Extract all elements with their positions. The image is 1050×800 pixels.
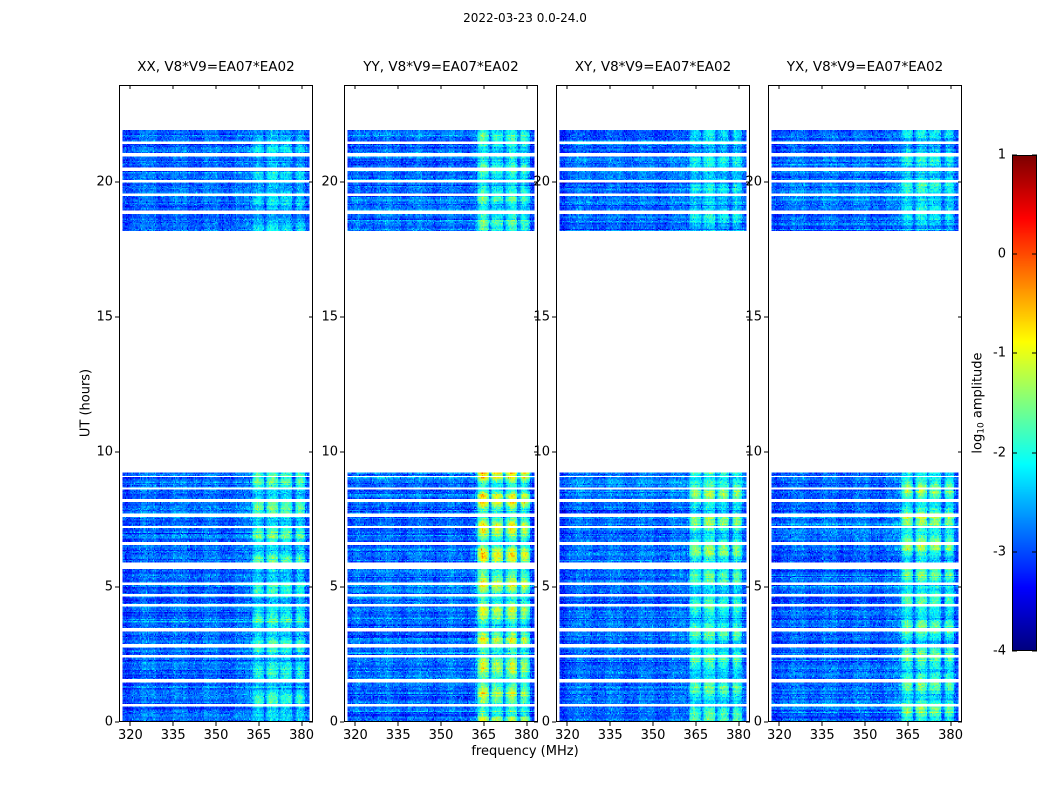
x-tick-mark-top: [258, 85, 259, 89]
y-tick-label: 5: [542, 580, 550, 595]
y-tick-label: 15: [96, 310, 113, 325]
y-tick-mark-right: [746, 587, 750, 588]
spectrogram-panel-yx: YX, V8*V9=EA07*EA02051015203203353503653…: [768, 85, 962, 722]
y-tick-label: 0: [330, 715, 338, 730]
x-tick-label: 320: [118, 728, 143, 743]
y-tick-label: 0: [542, 715, 550, 730]
y-tick-mark-right: [958, 182, 962, 183]
x-tick-label: 380: [289, 728, 314, 743]
y-tick-mark: [764, 722, 768, 723]
y-tick-mark: [115, 587, 119, 588]
x-tick-mark: [441, 722, 442, 726]
x-tick-label: 350: [429, 728, 454, 743]
x-tick-mark-top: [865, 85, 866, 89]
y-tick-mark-right: [309, 722, 313, 723]
y-tick-label: 20: [533, 175, 550, 190]
x-tick-mark: [216, 722, 217, 726]
colorbar-tick-mark-right: [1032, 353, 1037, 354]
colorbar-tick-mark: [1012, 452, 1017, 453]
plot-area-xy[interactable]: [556, 85, 750, 722]
y-tick-mark-right: [309, 452, 313, 453]
x-tick-mark: [695, 722, 696, 726]
heatmap-image-yy: [345, 86, 537, 721]
x-tick-mark: [301, 722, 302, 726]
x-tick-mark: [173, 722, 174, 726]
y-tick-mark-right: [746, 722, 750, 723]
x-tick-mark-top: [567, 85, 568, 89]
colorbar[interactable]: [1012, 155, 1037, 651]
y-tick-mark: [115, 182, 119, 183]
y-tick-label: 5: [754, 580, 762, 595]
plot-area-yy[interactable]: [344, 85, 538, 722]
y-tick-label: 10: [745, 445, 762, 460]
y-tick-mark-right: [958, 587, 962, 588]
x-tick-mark: [907, 722, 908, 726]
x-tick-mark-top: [526, 85, 527, 89]
plot-area-xx[interactable]: [119, 85, 313, 722]
colorbar-tick-label: 0: [998, 247, 1006, 262]
y-tick-label: 5: [330, 580, 338, 595]
colorbar-tick-mark-right: [1032, 254, 1037, 255]
panel-title-yy: YY, V8*V9=EA07*EA02: [363, 59, 518, 75]
y-tick-mark: [552, 317, 556, 318]
x-tick-mark-top: [653, 85, 654, 89]
heatmap-image-yx: [769, 86, 961, 721]
y-tick-mark: [764, 587, 768, 588]
colorbar-label-main: amplitude: [971, 352, 986, 418]
x-tick-label: 380: [514, 728, 539, 743]
x-tick-mark: [483, 722, 484, 726]
x-tick-mark-top: [483, 85, 484, 89]
x-tick-mark-top: [907, 85, 908, 89]
colorbar-tick-mark: [1012, 254, 1017, 255]
x-tick-label: 335: [386, 728, 411, 743]
y-tick-mark: [764, 317, 768, 318]
colorbar-label-prefix: log: [971, 434, 986, 454]
y-tick-mark-right: [309, 317, 313, 318]
spectrogram-panel-yy: YY, V8*V9=EA07*EA02051015203203353503653…: [344, 85, 538, 722]
x-tick-label: 380: [726, 728, 751, 743]
x-tick-mark-top: [738, 85, 739, 89]
x-tick-label: 335: [161, 728, 186, 743]
colorbar-label-sub: 10: [977, 422, 987, 433]
x-tick-mark: [779, 722, 780, 726]
x-tick-label: 365: [246, 728, 271, 743]
y-tick-label: 20: [321, 175, 338, 190]
x-tick-label: 335: [598, 728, 623, 743]
x-tick-label: 350: [853, 728, 878, 743]
y-tick-mark: [115, 452, 119, 453]
y-tick-mark: [340, 587, 344, 588]
y-axis-label: UT (hours): [79, 369, 94, 437]
y-tick-label: 10: [533, 445, 550, 460]
colorbar-tick-label: -1: [993, 346, 1006, 361]
x-tick-label: 365: [895, 728, 920, 743]
y-tick-mark: [552, 452, 556, 453]
x-tick-mark-top: [173, 85, 174, 89]
x-tick-label: 320: [555, 728, 580, 743]
x-tick-mark-top: [301, 85, 302, 89]
y-tick-mark: [764, 452, 768, 453]
y-tick-mark-right: [534, 722, 538, 723]
y-tick-label: 0: [105, 715, 113, 730]
colorbar-tick-label: -4: [993, 644, 1006, 659]
x-tick-mark: [526, 722, 527, 726]
x-tick-mark: [865, 722, 866, 726]
spectrogram-panel-xy: XY, V8*V9=EA07*EA02051015203203353503653…: [556, 85, 750, 722]
x-tick-mark-top: [355, 85, 356, 89]
x-tick-mark: [567, 722, 568, 726]
y-tick-mark: [764, 182, 768, 183]
colorbar-tick-mark-right: [1032, 551, 1037, 552]
colorbar-tick-label: -3: [993, 544, 1006, 559]
y-tick-mark-right: [309, 182, 313, 183]
colorbar-tick-mark-right: [1032, 155, 1037, 156]
y-tick-mark: [552, 587, 556, 588]
x-tick-label: 350: [641, 728, 666, 743]
x-tick-label: 365: [683, 728, 708, 743]
y-tick-mark-right: [309, 587, 313, 588]
y-tick-mark: [340, 182, 344, 183]
panel-title-xy: XY, V8*V9=EA07*EA02: [575, 59, 731, 75]
y-tick-mark: [340, 317, 344, 318]
colorbar-tick-label: 1: [998, 148, 1006, 163]
y-tick-mark: [340, 722, 344, 723]
heatmap-image-xx: [120, 86, 312, 721]
colorbar-tick-mark: [1012, 155, 1017, 156]
x-tick-mark: [355, 722, 356, 726]
y-tick-mark-right: [958, 317, 962, 318]
x-tick-label: 320: [343, 728, 368, 743]
y-tick-mark: [552, 722, 556, 723]
y-tick-label: 10: [321, 445, 338, 460]
colorbar-group: -4-3-2-101: [1012, 155, 1037, 651]
x-tick-mark-top: [822, 85, 823, 89]
y-tick-label: 15: [533, 310, 550, 325]
y-tick-label: 5: [105, 580, 113, 595]
y-tick-label: 20: [745, 175, 762, 190]
x-tick-mark-top: [610, 85, 611, 89]
x-tick-mark: [398, 722, 399, 726]
x-tick-mark: [130, 722, 131, 726]
x-tick-mark: [610, 722, 611, 726]
y-tick-mark: [552, 182, 556, 183]
x-tick-mark-top: [779, 85, 780, 89]
x-tick-mark: [258, 722, 259, 726]
x-tick-label: 335: [810, 728, 835, 743]
colorbar-label: log10 amplitude: [971, 352, 986, 453]
y-tick-label: 10: [96, 445, 113, 460]
x-tick-label: 380: [938, 728, 963, 743]
x-tick-mark: [822, 722, 823, 726]
colorbar-tick-mark: [1012, 651, 1017, 652]
x-tick-mark: [653, 722, 654, 726]
x-tick-mark-top: [398, 85, 399, 89]
y-tick-label: 15: [745, 310, 762, 325]
y-tick-mark-right: [958, 722, 962, 723]
heatmap-image-xy: [557, 86, 749, 721]
colorbar-tick-mark: [1012, 551, 1017, 552]
x-tick-mark-top: [695, 85, 696, 89]
y-tick-label: 15: [321, 310, 338, 325]
panel-title-yx: YX, V8*V9=EA07*EA02: [787, 59, 943, 75]
x-tick-mark-top: [216, 85, 217, 89]
y-tick-label: 0: [754, 715, 762, 730]
y-tick-label: 20: [96, 175, 113, 190]
plot-area-yx[interactable]: [768, 85, 962, 722]
colorbar-gradient: [1013, 156, 1036, 650]
y-tick-mark-right: [958, 452, 962, 453]
x-tick-mark-top: [950, 85, 951, 89]
x-tick-label: 320: [767, 728, 792, 743]
figure-canvas: 2022-03-23 0.0-24.0 UT (hours) frequency…: [0, 0, 1050, 800]
colorbar-tick-mark-right: [1032, 651, 1037, 652]
colorbar-tick-label: -2: [993, 445, 1006, 460]
spectrogram-panel-xx: XX, V8*V9=EA07*EA02051015203203353503653…: [119, 85, 313, 722]
colorbar-tick-mark: [1012, 353, 1017, 354]
y-tick-mark-right: [534, 587, 538, 588]
x-tick-label: 350: [204, 728, 229, 743]
y-tick-mark: [115, 317, 119, 318]
y-tick-mark: [115, 722, 119, 723]
colorbar-tick-mark-right: [1032, 452, 1037, 453]
figure-suptitle: 2022-03-23 0.0-24.0: [0, 11, 1050, 25]
panel-title-xx: XX, V8*V9=EA07*EA02: [137, 59, 294, 75]
x-tick-label: 365: [471, 728, 496, 743]
x-tick-mark-top: [441, 85, 442, 89]
x-axis-label: frequency (MHz): [0, 744, 1050, 759]
x-tick-mark: [950, 722, 951, 726]
x-tick-mark: [738, 722, 739, 726]
y-tick-mark: [340, 452, 344, 453]
x-tick-mark-top: [130, 85, 131, 89]
